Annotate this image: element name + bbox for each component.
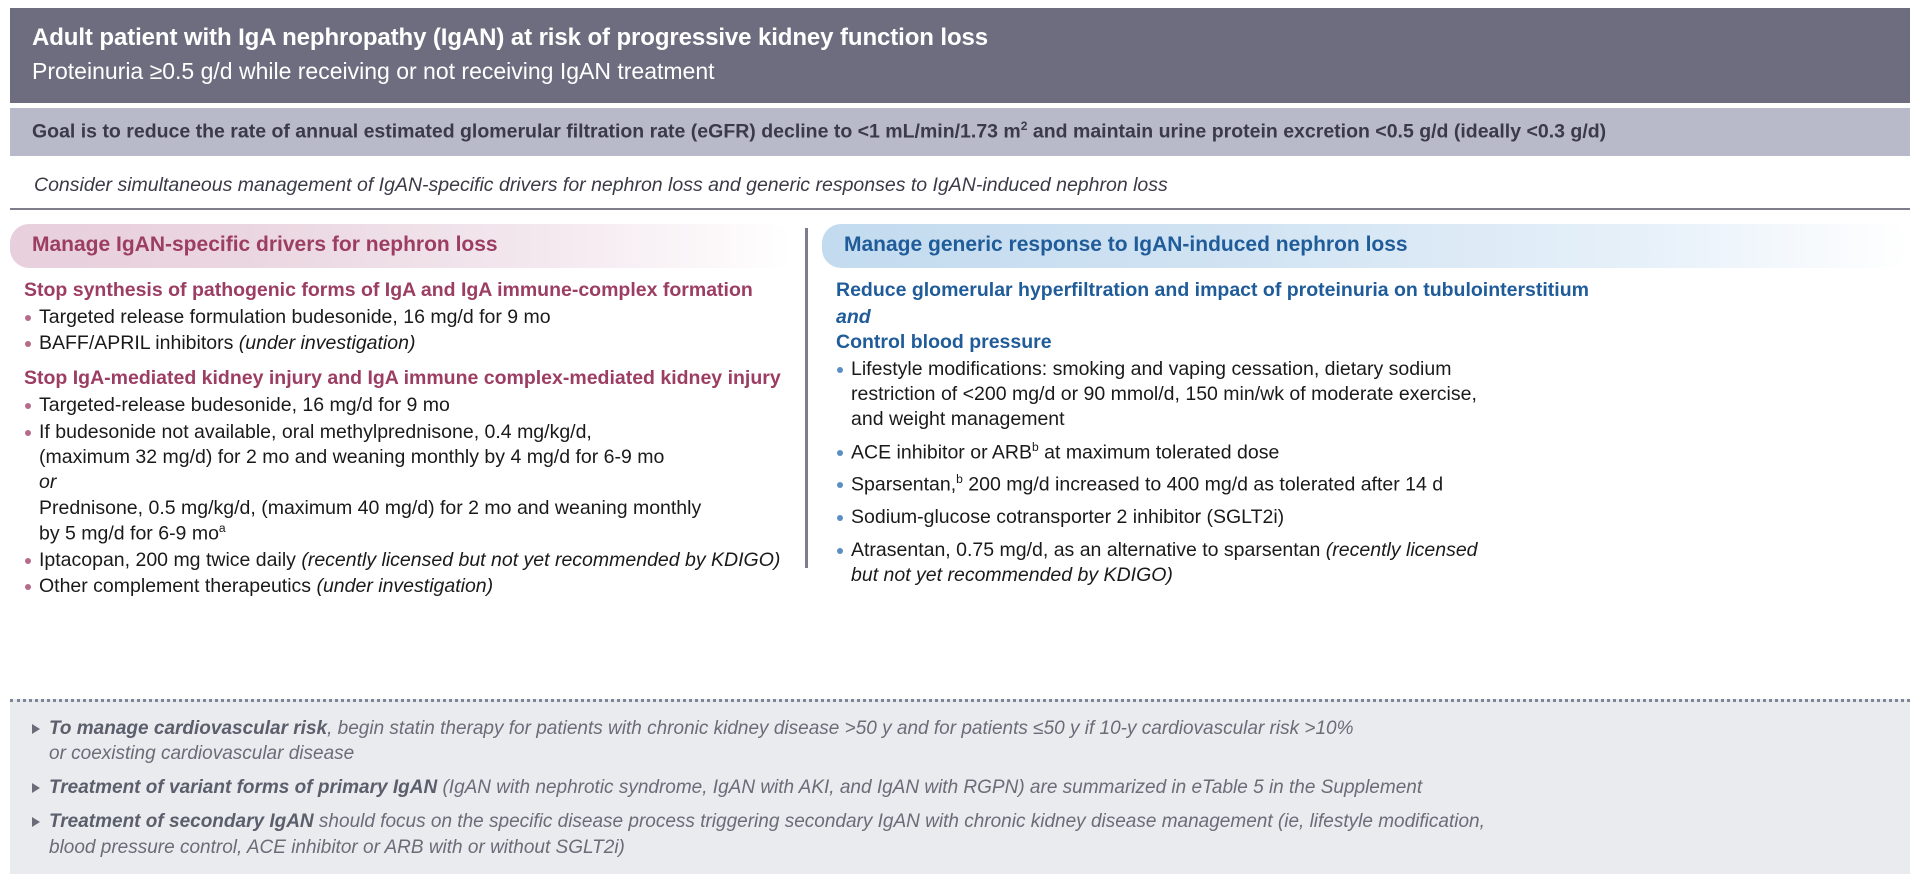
list-item: ACE inhibitor or ARBb at maximum tolerat… bbox=[836, 440, 1910, 466]
footnote-line2: or coexisting cardiovascular disease bbox=[49, 741, 1888, 766]
item-text-line4: by 5 mg/d for 6-9 moa bbox=[39, 521, 791, 547]
goal-text-part1: Goal is to reduce the rate of annual est… bbox=[32, 121, 1021, 143]
left-section2-heading: Stop IgA-mediated kidney injury and IgA … bbox=[24, 366, 791, 391]
figure-footnotes: To manage cardiovascular risk, begin sta… bbox=[10, 699, 1910, 874]
footnote-item: To manage cardiovascular risk, begin sta… bbox=[32, 716, 1888, 767]
left-section1-list: Targeted release formulation budesonide,… bbox=[24, 305, 791, 357]
item-text: Targeted-release budesonide, 16 mg/d for… bbox=[39, 394, 450, 416]
item-text-after: at maximum tolerated dose bbox=[1039, 441, 1280, 463]
item-text: Targeted release formulation budesonide,… bbox=[39, 306, 551, 328]
left-column: Manage IgAN-specific drivers for nephron… bbox=[10, 224, 805, 600]
item-note: (under investigation) bbox=[316, 575, 493, 597]
list-item: Sparsentan,b 200 mg/d increased to 400 m… bbox=[836, 472, 1910, 498]
footnote-bold-lead: Treatment of variant forms of primary Ig… bbox=[49, 777, 437, 798]
left-section2-list: Targeted-release budesonide, 16 mg/d for… bbox=[24, 393, 791, 599]
item-text-line2: restriction of <200 mg/d or 90 mmol/d, 1… bbox=[851, 382, 1910, 407]
item-text: BAFF/APRIL inhibitors bbox=[39, 332, 239, 354]
goal-text-part2: and maintain urine protein excretion <0.… bbox=[1028, 121, 1607, 143]
footnote-item: Treatment of secondary IgAN should focus… bbox=[32, 809, 1888, 860]
list-item: If budesonide not available, oral methyl… bbox=[24, 420, 791, 547]
footnote-bold-lead: To manage cardiovascular risk bbox=[49, 718, 327, 739]
right-column-list: Lifestyle modifications: smoking and vap… bbox=[836, 357, 1910, 589]
figure-header: Adult patient with IgA nephropathy (IgAN… bbox=[10, 8, 1910, 103]
item-text-line3: Prednisone, 0.5 mg/kg/d, (maximum 40 mg/… bbox=[39, 496, 791, 521]
footnote-rest: , begin statin therapy for patients with… bbox=[327, 718, 1353, 739]
goal-superscript: 2 bbox=[1021, 119, 1028, 133]
footnote-bold-lead: Treatment of secondary IgAN bbox=[49, 811, 314, 832]
right-column-pill-header: Manage generic response to IgAN-induced … bbox=[822, 224, 1910, 267]
item-note: (under investigation) bbox=[239, 332, 416, 354]
footnote-marker-a: a bbox=[219, 521, 226, 535]
right-section1-heading: Reduce glomerular hyperfiltration and im… bbox=[836, 278, 1910, 303]
item-text: Iptacopan, 200 mg twice daily bbox=[39, 549, 301, 571]
list-item: Iptacopan, 200 mg twice daily (recently … bbox=[24, 548, 791, 573]
igan-treatment-figure: Adult patient with IgA nephropathy (IgAN… bbox=[0, 0, 1920, 883]
footnote-rest: (IgAN with nephrotic syndrome, IgAN with… bbox=[437, 777, 1422, 798]
list-item: Sodium-glucose cotransporter 2 inhibitor… bbox=[836, 505, 1910, 530]
item-text: Other complement therapeutics bbox=[39, 575, 316, 597]
item-text-after: 200 mg/d increased to 400 mg/d as tolera… bbox=[963, 474, 1443, 496]
left-section1-heading: Stop synthesis of pathogenic forms of Ig… bbox=[24, 278, 791, 303]
footnote-marker-b: b bbox=[1032, 440, 1039, 454]
figure-subtitle: Proteinuria ≥0.5 g/d while receiving or … bbox=[32, 56, 1888, 87]
item-note: (recently licensed bbox=[1326, 539, 1478, 561]
item-text: Atrasentan, 0.75 mg/d, as an alternative… bbox=[851, 539, 1326, 561]
figure-title: Adult patient with IgA nephropathy (IgAN… bbox=[32, 22, 1888, 53]
item-text: Sodium-glucose cotransporter 2 inhibitor… bbox=[851, 506, 1284, 528]
item-text-line3: and weight management bbox=[851, 407, 1910, 432]
right-column: Manage generic response to IgAN-induced … bbox=[822, 224, 1910, 600]
left-column-pill-header: Manage IgAN-specific drivers for nephron… bbox=[10, 224, 791, 267]
list-item: Atrasentan, 0.75 mg/d, as an alternative… bbox=[836, 538, 1910, 589]
footnote-list: To manage cardiovascular risk, begin sta… bbox=[32, 716, 1888, 860]
item-text: Lifestyle modifications: smoking and vap… bbox=[851, 358, 1451, 380]
item-text-line4-main: by 5 mg/d for 6-9 mo bbox=[39, 523, 219, 545]
footnote-rest: should focus on the specific disease pro… bbox=[314, 811, 1485, 832]
footnote-marker-b: b bbox=[956, 472, 963, 486]
list-item: Other complement therapeutics (under inv… bbox=[24, 574, 791, 599]
footnote-line2: blood pressure control, ACE inhibitor or… bbox=[49, 835, 1888, 860]
item-text: If budesonide not available, oral methyl… bbox=[39, 421, 592, 443]
item-or-connector: or bbox=[39, 470, 791, 495]
goal-statement-bar: Goal is to reduce the rate of annual est… bbox=[10, 108, 1910, 156]
footnote-item: Treatment of variant forms of primary Ig… bbox=[32, 775, 1888, 800]
item-text-line2: (maximum 32 mg/d) for 2 mo and weaning m… bbox=[39, 445, 791, 470]
right-section-connector: and bbox=[836, 305, 1910, 330]
item-note: (recently licensed but not yet recommend… bbox=[301, 549, 780, 571]
list-item: Targeted-release budesonide, 16 mg/d for… bbox=[24, 393, 791, 418]
item-note-line2: but not yet recommended by KDIGO) bbox=[851, 563, 1910, 588]
item-text: Sparsentan, bbox=[851, 474, 956, 496]
list-item: Targeted release formulation budesonide,… bbox=[24, 305, 791, 330]
item-text: ACE inhibitor or ARB bbox=[851, 441, 1032, 463]
list-item: Lifestyle modifications: smoking and vap… bbox=[836, 357, 1910, 433]
right-section2-heading: Control blood pressure bbox=[836, 330, 1910, 355]
consider-instruction: Consider simultaneous management of IgAN… bbox=[10, 156, 1910, 210]
columns-container: Manage IgAN-specific drivers for nephron… bbox=[10, 210, 1910, 600]
column-divider bbox=[805, 228, 808, 568]
list-item: BAFF/APRIL inhibitors (under investigati… bbox=[24, 331, 791, 356]
